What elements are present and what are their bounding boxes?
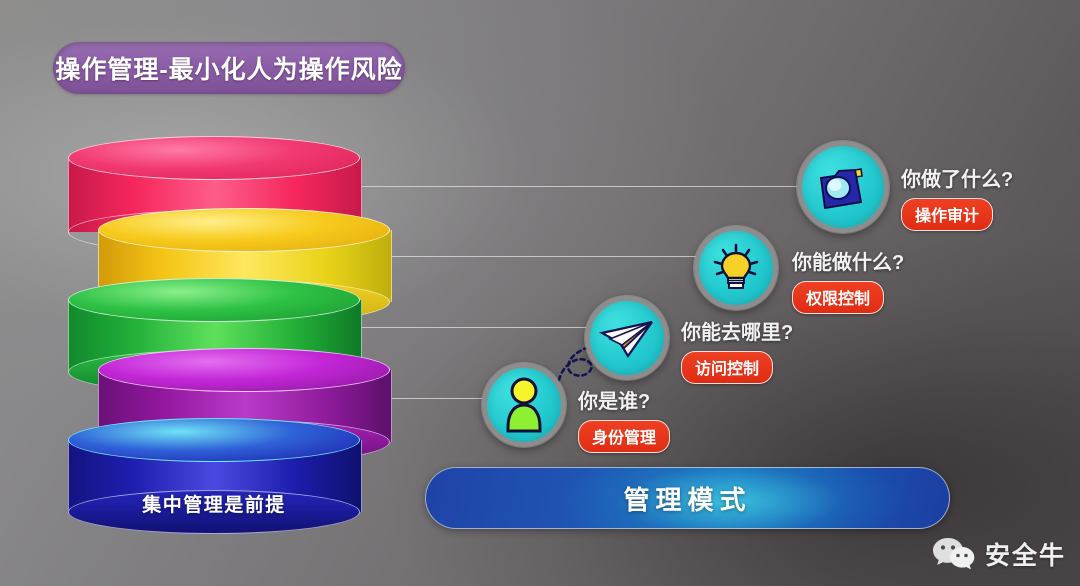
node-privilege-tag[interactable]: 权限控制: [792, 281, 884, 314]
connector-line-privilege: [392, 256, 697, 257]
node-privilege-labels: 你能做什么? 权限控制: [792, 246, 904, 314]
lightbulb-icon: [709, 241, 763, 295]
person-icon: [502, 377, 546, 433]
connector-line-audit: [355, 186, 810, 187]
node-privilege-question: 你能做什么?: [792, 246, 904, 275]
paper-plane-icon: [598, 315, 656, 361]
node-identity-labels: 你是谁? 身份管理: [578, 385, 670, 453]
wechat-icon: [932, 536, 976, 572]
cylinder-bottom: [68, 490, 360, 534]
watermark-text: 安全牛: [985, 536, 1066, 572]
layered-cylinder-stack: 操作审计是保证 权限控制是核心 访问控制是手段 身份管理是基础: [0, 0, 420, 560]
node-identity-tag[interactable]: 身份管理: [578, 420, 670, 453]
camera-icon-circle[interactable]: [797, 141, 889, 233]
management-mode-label: 管理模式: [623, 480, 751, 517]
node-access-tag[interactable]: 访问控制: [681, 351, 773, 384]
node-audit-labels: 你做了什么? 操作审计: [901, 163, 1013, 231]
camera-icon: [815, 164, 871, 210]
cylinder-top: [68, 418, 360, 462]
cylinder-top: [68, 136, 360, 180]
node-access-labels: 你能去哪里? 访问控制: [681, 316, 793, 384]
cylinder-top: [98, 348, 390, 392]
node-access-question: 你能去哪里?: [681, 316, 793, 345]
lightbulb-icon-circle[interactable]: [694, 226, 778, 310]
node-identity-question: 你是谁?: [578, 385, 670, 414]
cylinder-top: [68, 278, 360, 322]
paper-plane-icon-circle[interactable]: [585, 296, 669, 380]
node-audit-tag[interactable]: 操作审计: [901, 198, 993, 231]
management-mode-bar: 管理模式: [425, 467, 950, 529]
cylinder-layer-central: 集中管理是前提: [68, 418, 360, 534]
node-audit-question: 你做了什么?: [901, 163, 1013, 192]
cylinder-top: [98, 208, 390, 252]
person-icon-circle[interactable]: [482, 363, 566, 447]
slide-canvas: 操作管理-最小化人为操作风险 操作审计是保证 权限控制是核心 访问控制是手段: [0, 0, 1080, 586]
watermark: 安全牛: [932, 536, 1066, 572]
